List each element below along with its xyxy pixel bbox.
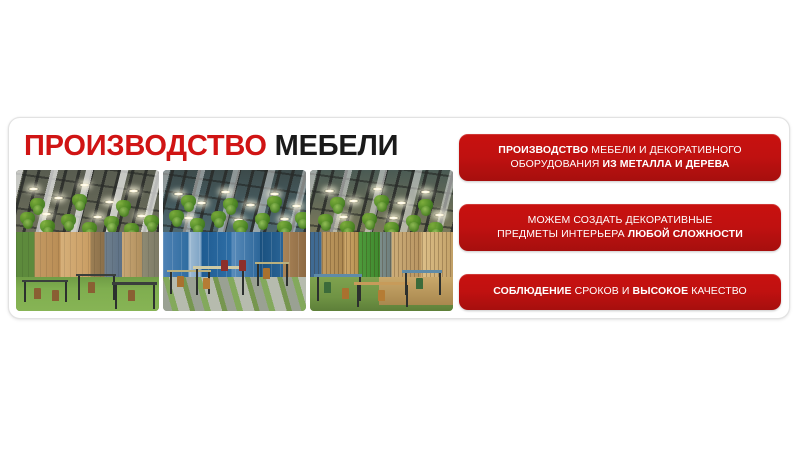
page-title: ПРОИЗВОДСТВО МЕБЕЛИ [24,130,398,162]
furniture-silhouettes [16,170,159,311]
banner-text: ПРОИЗВОДСТВО МЕБЕЛИ И ДЕКОРАТИВНОГО ОБОР… [498,144,741,171]
page-title-plain: МЕБЕЛИ [275,130,399,162]
banner-text: СОБЛЮДЕНИЕ СРОКОВ И ВЫСОКОЕ КАЧЕСТВО [493,285,747,299]
interior-photo-2[interactable] [163,170,306,311]
banner-production[interactable]: ПРОИЗВОДСТВО МЕБЕЛИ И ДЕКОРАТИВНОГО ОБОР… [459,134,781,181]
banner-decorative[interactable]: МОЖЕМ СОЗДАТЬ ДЕКОРАТИВНЫЕ ПРЕДМЕТЫ ИНТЕ… [459,204,781,251]
banner-text: МОЖЕМ СОЗДАТЬ ДЕКОРАТИВНЫЕ ПРЕДМЕТЫ ИНТЕ… [497,214,743,241]
interior-photo-3[interactable] [310,170,453,311]
banner-list: ПРОИЗВОДСТВО МЕБЕЛИ И ДЕКОРАТИВНОГО ОБОР… [459,134,781,310]
page-title-accent: ПРОИЗВОДСТВО [24,130,267,162]
furniture-silhouettes [310,170,453,311]
page-root: ПРОИЗВОДСТВО МЕБЕЛИ [0,0,800,450]
photo-gallery [16,170,453,311]
promo-card: ПРОИЗВОДСТВО МЕБЕЛИ [8,117,790,319]
furniture-silhouettes [163,170,306,311]
banner-quality[interactable]: СОБЛЮДЕНИЕ СРОКОВ И ВЫСОКОЕ КАЧЕСТВО [459,274,781,310]
interior-photo-1[interactable] [16,170,159,311]
